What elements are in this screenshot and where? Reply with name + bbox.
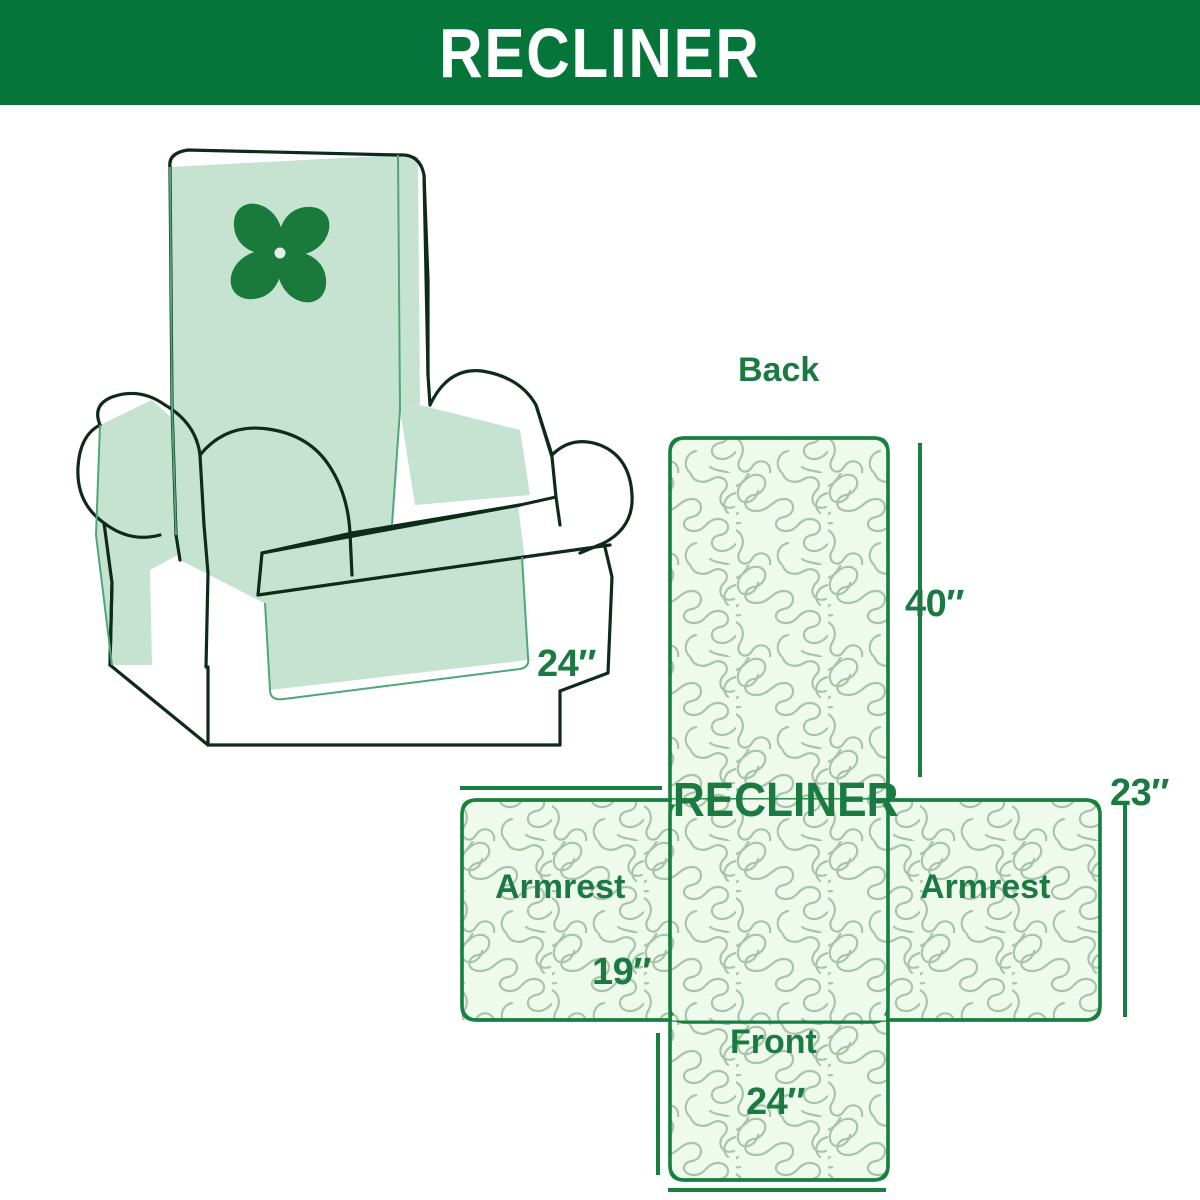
- label-back: Back: [738, 353, 819, 387]
- label-armrest-right: Armrest: [920, 870, 1050, 904]
- dimension-back-height: 40″: [905, 585, 964, 623]
- dimension-front-width: 24″: [746, 1083, 805, 1121]
- label-front: Front: [730, 1025, 817, 1059]
- dimension-armrest-width: 24″: [537, 645, 596, 683]
- page-title: RECLINER: [439, 18, 760, 88]
- label-recliner: RECLINER: [673, 777, 899, 825]
- dimension-seat-depth: 23″: [1110, 774, 1169, 812]
- diagram-stage: Back RECLINER Armrest Armrest Front 40″ …: [0, 105, 1200, 1200]
- header-banner: RECLINER: [0, 0, 1200, 105]
- label-armrest-left: Armrest: [495, 870, 625, 904]
- dimension-front-height: 19″: [592, 953, 651, 991]
- diagram-text-layer: Back RECLINER Armrest Armrest Front 40″ …: [0, 105, 1200, 1200]
